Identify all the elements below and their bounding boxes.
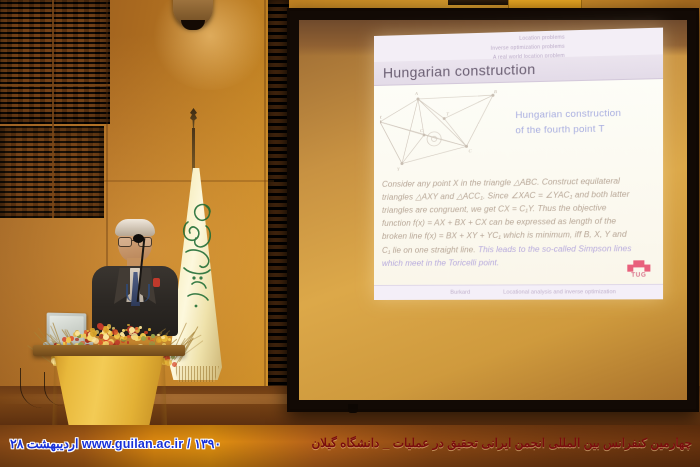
banner-fringe — [170, 366, 222, 382]
screen-mount-bracket — [348, 404, 358, 413]
slide-paragraph-line-6: C₁ lie on one straight line. This leads … — [382, 241, 657, 256]
bottom-caption-bar: www.guilan.ac.ir / ۱۳۹۰ اردیبهشت ۲۸ چهار… — [0, 425, 700, 467]
tug-logo: TUG — [625, 260, 652, 279]
svg-text:C: C — [469, 148, 473, 153]
slide-annotation-line-2: of the fourth point T — [515, 121, 656, 139]
glasses-lens-left — [118, 237, 132, 247]
flower-blossom — [84, 330, 87, 333]
banner-emblem-icon — [176, 196, 220, 324]
presentation-slide: Location problems Inverse optimization p… — [374, 28, 663, 300]
wall-seam-mid — [104, 180, 274, 182]
svg-text:Y: Y — [397, 167, 400, 172]
tug-logo-mark-icon — [627, 260, 650, 271]
flower-blossom — [144, 331, 147, 334]
acoustic-panel-upper-left — [0, 0, 110, 124]
flower-blossom — [141, 336, 146, 341]
presenter-badge — [153, 278, 160, 287]
slide-paragraph-line-7-highlight: which meet in the Toricelli point. — [382, 255, 657, 270]
panel-seam-horizontal — [0, 84, 110, 86]
slide-paragraph-line-6-highlight: This leads to the so-called Simpson line… — [478, 244, 632, 254]
podium-tabletop — [33, 345, 185, 356]
screenshot-root: Location problems Inverse optimization p… — [0, 0, 700, 467]
slide-footer-author: Burkard — [450, 290, 470, 296]
flower-blossom — [127, 341, 129, 343]
flower-blossom — [151, 334, 155, 338]
slide-paragraph: Consider any point X in the triangle △AB… — [382, 174, 657, 270]
panel-seam-vertical — [52, 0, 54, 218]
slide-paragraph-line-6-plain: C₁ lie on one straight line. — [382, 245, 476, 255]
flower-blossom — [90, 330, 97, 337]
svg-text:X: X — [380, 115, 382, 120]
svg-text:B: B — [494, 89, 497, 94]
flower-blossom — [135, 327, 138, 330]
acoustic-panel-strip — [268, 0, 289, 392]
flower-blossom — [157, 334, 160, 337]
curtain-rail — [448, 0, 514, 5]
microphone-icon — [133, 234, 144, 243]
svg-text:A: A — [414, 91, 418, 96]
svg-text:T: T — [446, 111, 449, 116]
flower-blossom — [148, 337, 150, 339]
conference-website-date[interactable]: www.guilan.ac.ir / ۱۳۹۰ اردیبهشت ۲۸ — [10, 436, 221, 451]
slide-footer-title: Locational analysis and inverse optimiza… — [503, 289, 616, 295]
flower-blossom — [75, 331, 80, 336]
tug-logo-text: TUG — [625, 273, 652, 279]
slide-footer: Burkard Locational analysis and inverse … — [374, 284, 663, 300]
flower-blossom — [66, 337, 72, 343]
flower-blossom — [121, 337, 124, 340]
flower-blossom — [168, 338, 171, 341]
flower-blossom — [112, 329, 118, 335]
conference-title-farsi: چهارمین کنفرانس بین المللی انجمن ایرانی … — [311, 436, 692, 450]
flower-blossom — [127, 335, 131, 339]
flower-blossom — [107, 324, 111, 328]
flower-blossom — [122, 329, 125, 332]
presenter-hair — [115, 219, 155, 236]
hungarian-construction-diagram: A B C Y X T C — [380, 89, 507, 174]
slide-annotation: Hungarian construction of the fourth poi… — [515, 106, 656, 139]
wall-seam-right — [264, 0, 266, 425]
flower-blossom — [103, 334, 109, 340]
flower-blossom — [156, 337, 162, 343]
flower-blossom — [148, 328, 151, 331]
flower-blossom — [75, 338, 79, 342]
